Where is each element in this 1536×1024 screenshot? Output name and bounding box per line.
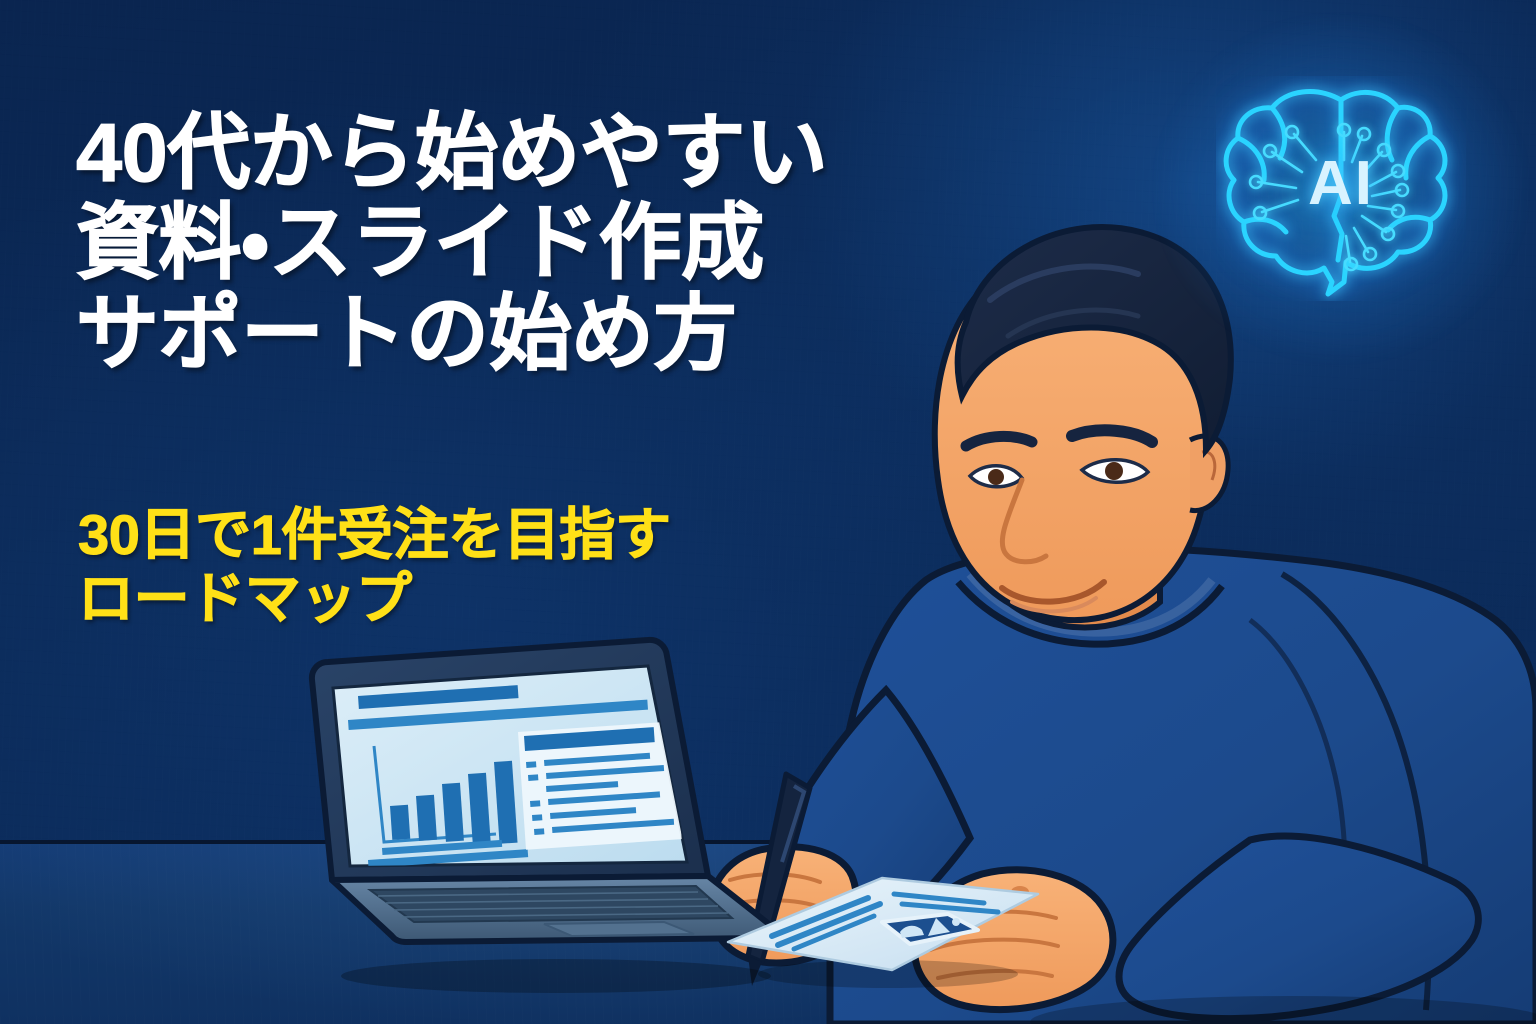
subheadline-block: 30日で1件受注を目指す ロードマップ bbox=[78, 503, 978, 631]
headline-line-3: サポートの始め方 bbox=[76, 289, 1026, 379]
bullet-marker bbox=[530, 800, 540, 807]
bullet-marker bbox=[532, 814, 542, 821]
chart-bar bbox=[416, 795, 437, 841]
laptop-shadow bbox=[341, 959, 771, 993]
image-sun-icon bbox=[952, 918, 960, 926]
bullet-marker bbox=[528, 774, 538, 781]
ai-brain-badge: AI bbox=[1216, 76, 1466, 301]
pupil-right bbox=[1105, 462, 1123, 480]
headline-line-1: 40代から始めやすい bbox=[76, 108, 1026, 198]
headline-block: 40代から始めやすい 資料・スライド作成 サポートの始め方 bbox=[76, 108, 1026, 379]
subheadline-line-2: ロードマップ bbox=[78, 567, 978, 631]
laptop-trackpad bbox=[544, 922, 694, 936]
bullet-marker bbox=[534, 828, 544, 835]
chart-bar bbox=[390, 805, 410, 840]
subheadline-line-1: 30日で1件受注を目指す bbox=[78, 503, 978, 567]
thumbnail-canvas: man-illustration bbox=[0, 0, 1536, 1024]
paper-document bbox=[716, 856, 1046, 996]
pupil-left bbox=[988, 469, 1004, 485]
headline-line-2: 資料・スライド作成 bbox=[76, 198, 1026, 288]
ai-label: AI bbox=[1216, 148, 1466, 219]
bullet-marker bbox=[526, 761, 536, 768]
